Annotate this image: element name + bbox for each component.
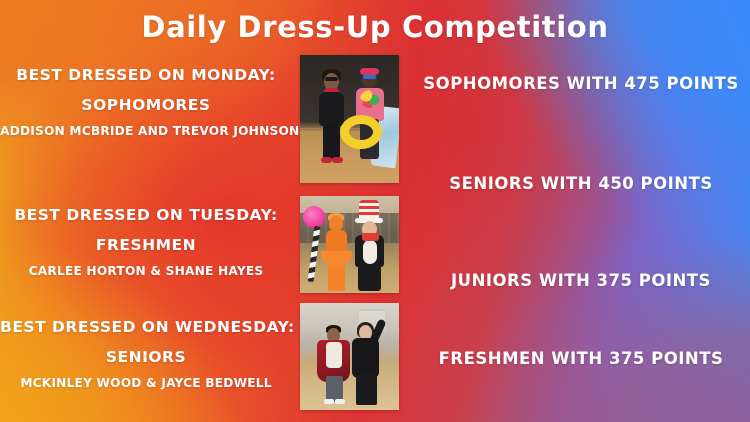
red-shoe-right — [332, 157, 343, 163]
winner-photo-monday — [300, 55, 399, 183]
flower-lei — [360, 90, 380, 108]
truffula-tree-top — [303, 206, 325, 228]
white-shirt — [326, 342, 342, 368]
sunglasses — [325, 77, 338, 81]
cat-costume-belly — [363, 240, 377, 264]
lorax-legs — [328, 265, 345, 291]
standing-row: JUNIORS WITH 375 POINTS — [412, 271, 750, 290]
cat-in-the-hat-hat — [359, 200, 379, 220]
dress-up-competition-slide: Daily Dress-Up Competition BEST DRESSED … — [0, 0, 750, 422]
award-grade: SENIORS — [0, 348, 292, 367]
award-block-monday: BEST DRESSED ON MONDAY: SOPHOMORES ADDIS… — [0, 66, 292, 139]
winner-photo-tuesday — [300, 196, 399, 293]
award-grade: SOPHOMORES — [0, 96, 292, 115]
inflatable-tube — [340, 115, 382, 149]
award-grade: FRESHMEN — [0, 236, 292, 255]
sneaker-left — [324, 399, 334, 404]
student-legs — [356, 375, 377, 405]
award-heading: BEST DRESSED ON MONDAY: — [0, 66, 292, 85]
standing-row: FRESHMEN WITH 375 POINTS — [412, 349, 750, 368]
standing-row: SOPHOMORES WITH 475 POINTS — [412, 74, 750, 93]
winner-photo-wednesday — [300, 303, 399, 410]
daily-winners-column: BEST DRESSED ON MONDAY: SOPHOMORES ADDIS… — [0, 0, 292, 422]
award-names: MCKINLEY WOOD & JAYCE BEDWELL — [0, 376, 292, 391]
cat-costume-legs — [358, 265, 381, 291]
standing-row: SENIORS WITH 450 POINTS — [412, 174, 750, 193]
standings-column: SOPHOMORES WITH 475 POINTS SENIORS WITH … — [412, 0, 750, 422]
award-names: ADDISON MCBRIDE AND TREVOR JOHNSON — [0, 124, 292, 139]
award-block-tuesday: BEST DRESSED ON TUESDAY: FRESHMEN CARLEE… — [0, 206, 292, 279]
leather-jacket — [319, 92, 344, 126]
award-heading: BEST DRESSED ON TUESDAY: — [0, 206, 292, 225]
red-bow-tie — [362, 233, 379, 241]
award-names: CARLEE HORTON & SHANE HAYES — [0, 264, 292, 279]
student-legs — [323, 124, 340, 159]
pink-headband — [360, 68, 379, 75]
red-shoe-left — [321, 157, 332, 163]
blue-sunglasses — [363, 75, 376, 79]
black-cape — [352, 338, 379, 378]
sneaker-right — [335, 399, 345, 404]
award-heading: BEST DRESSED ON WEDNESDAY: — [0, 318, 292, 337]
award-block-wednesday: BEST DRESSED ON WEDNESDAY: SENIORS MCKIN… — [0, 318, 292, 391]
